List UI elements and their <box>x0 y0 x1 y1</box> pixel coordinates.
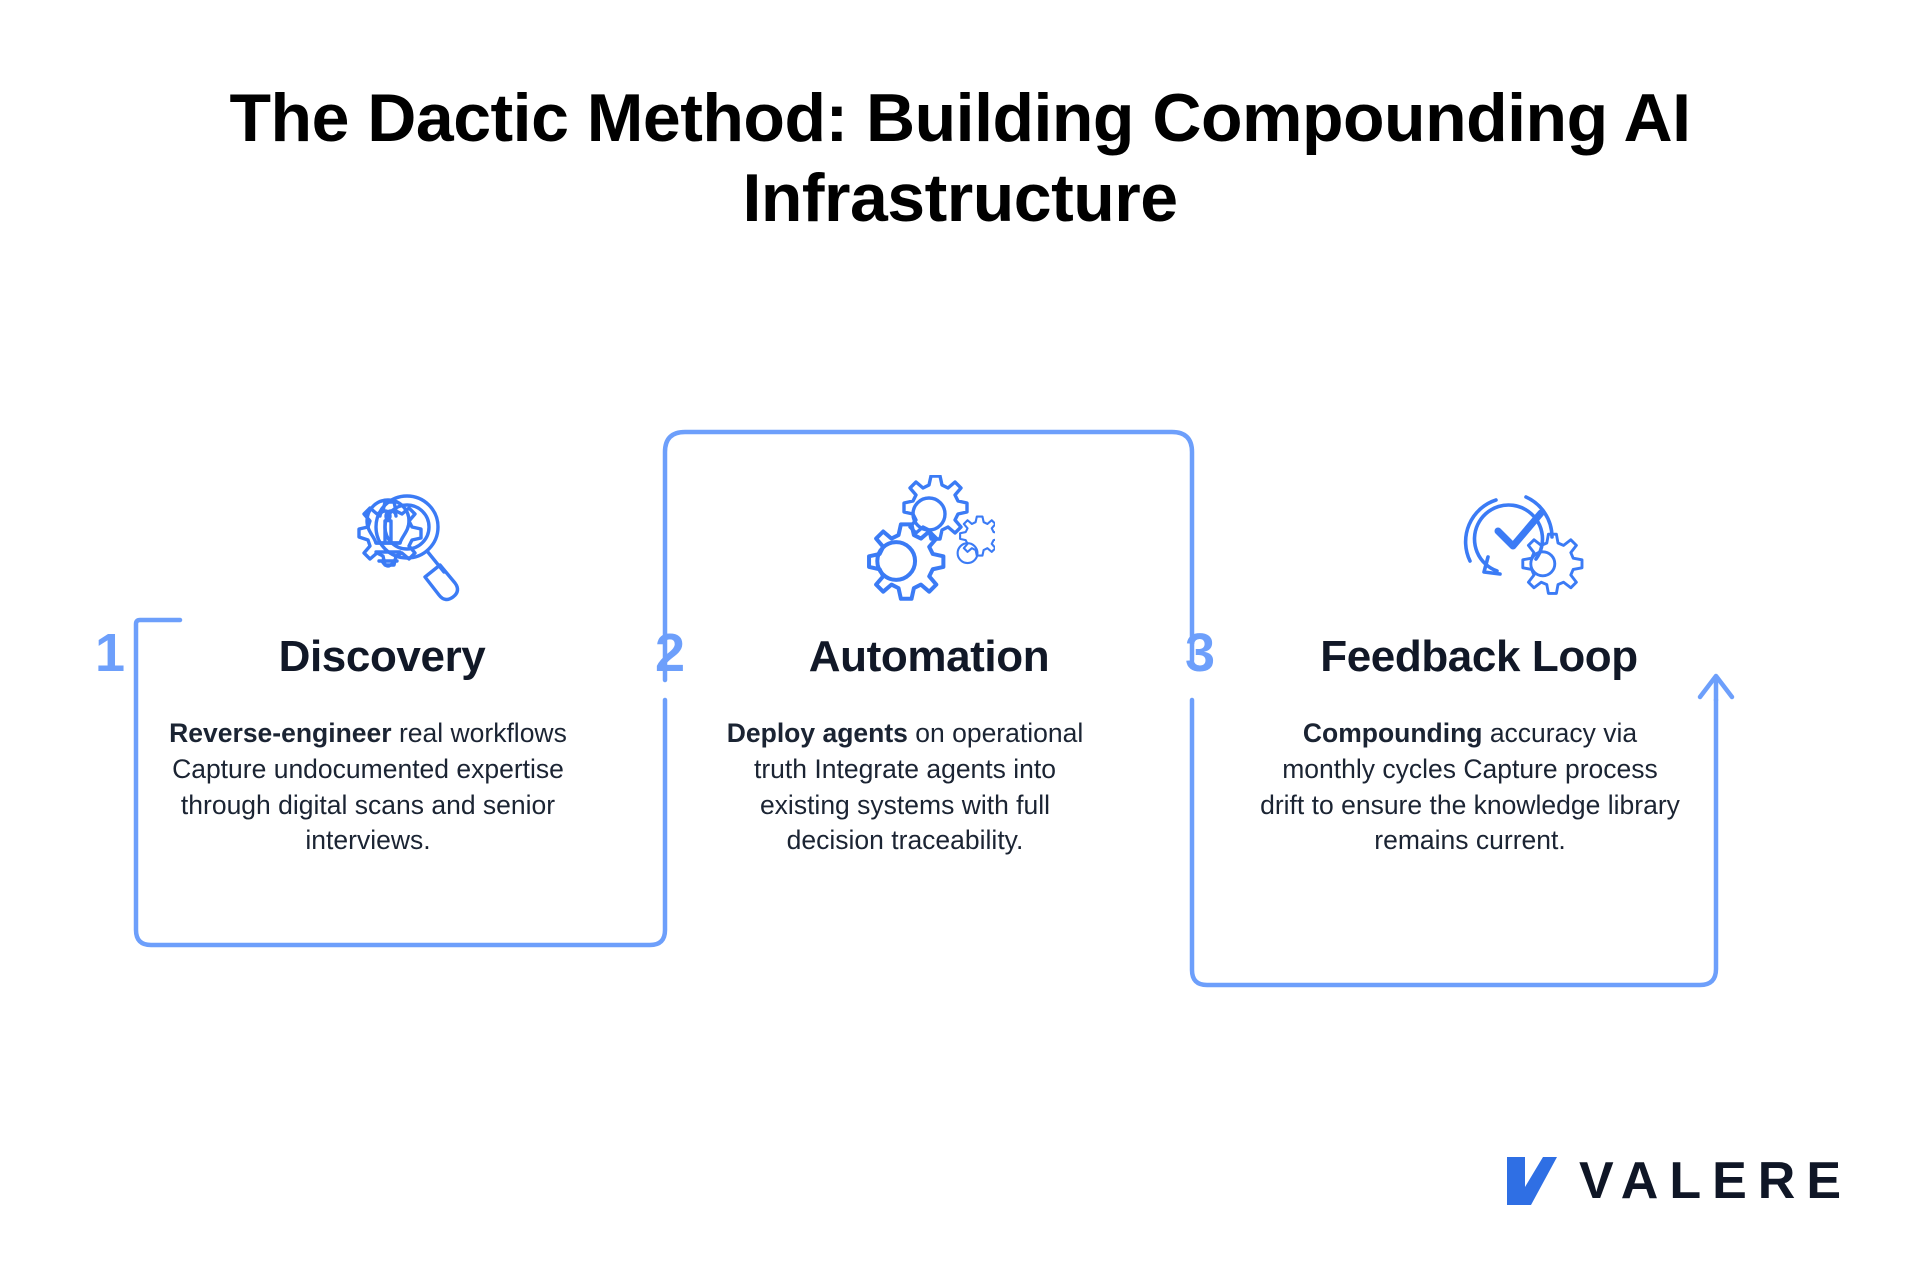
step-1-title: Discovery <box>153 635 655 679</box>
step-1-body: Reverse-engineer real workflows Capture … <box>153 716 583 859</box>
step-2-header: 2 Automation <box>655 626 1185 680</box>
steps-container: 1 Discovery Reverse-engineer real workfl… <box>95 470 1835 890</box>
step-card-1: 1 Discovery Reverse-engineer real workfl… <box>95 470 655 886</box>
step-2-body: Deploy agents on operational truth Integ… <box>710 716 1100 859</box>
step-3-header: 3 Feedback Loop <box>1185 626 1835 680</box>
step-2-number: 2 <box>655 626 713 680</box>
step-2-body-bold: Deploy agents <box>727 718 908 748</box>
step-3-icon-wrap <box>1185 470 1835 620</box>
step-card-3: 3 Feedback Loop Compounding accuracy via… <box>1185 470 1835 886</box>
gears-icon <box>845 475 995 615</box>
step-2-icon-wrap <box>655 470 1185 620</box>
step-2-title: Automation <box>713 635 1185 679</box>
valere-v-mark-icon <box>1503 1153 1561 1209</box>
step-1-icon-wrap <box>95 470 655 620</box>
step-1-header: 1 Discovery <box>95 626 655 680</box>
step-3-body: Compounding accuracy via monthly cycles … <box>1260 716 1680 859</box>
valere-logo: VALERE <box>1503 1153 1852 1209</box>
step-1-number: 1 <box>95 626 153 680</box>
step-card-2: 2 Automation Deploy agents on operationa… <box>655 470 1185 886</box>
lightbulb-gear-magnifier-icon <box>315 475 465 615</box>
step-3-title: Feedback Loop <box>1243 635 1835 679</box>
step-3-number: 3 <box>1185 626 1243 680</box>
checkmark-refresh-gear-icon <box>1440 475 1590 615</box>
step-3-body-bold: Compounding <box>1303 718 1483 748</box>
valere-logo-wordmark: VALERE <box>1579 1155 1852 1207</box>
step-1-body-bold: Reverse-engineer <box>169 718 391 748</box>
